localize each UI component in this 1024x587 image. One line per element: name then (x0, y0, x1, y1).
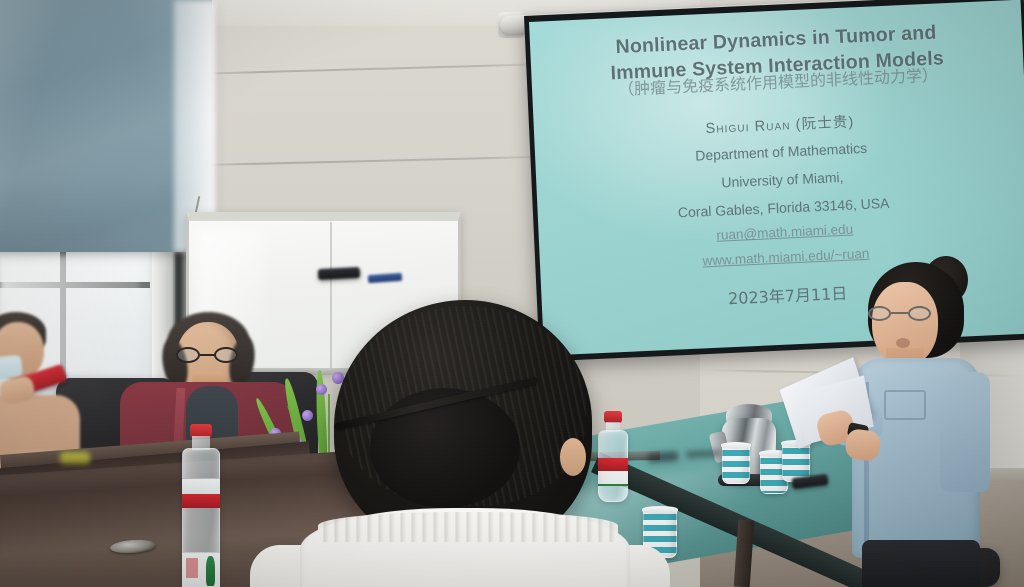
bottle-label-brand-front (182, 494, 220, 508)
speaker-shirt-pocket (884, 390, 926, 420)
bottle-label-leaf-front (206, 556, 215, 586)
speaker-glasses-icon (868, 306, 934, 321)
seated-man-glasses-icon (176, 347, 238, 363)
foreground-person-ear (560, 438, 586, 476)
phone-on-far-table[interactable] (318, 267, 361, 280)
face-mask-icon (0, 355, 23, 380)
seminar-room-photo: Nonlinear Dynamics in Tumor and Immune S… (0, 0, 1024, 587)
paper-cup-4-rim (642, 506, 678, 514)
paper-cup-1-rim (721, 442, 751, 449)
speaker-trousers (862, 540, 980, 587)
paper-cup-1[interactable] (722, 444, 750, 484)
whiteboard-seam (330, 222, 332, 368)
foreground-person-ruffle-trim (318, 512, 618, 542)
speaker-right-hand (844, 428, 882, 462)
small-item-on-table (60, 452, 90, 464)
foreground-person-bun (370, 388, 520, 508)
bottle-label-brand-right (598, 460, 628, 471)
speaker-mouth (896, 338, 910, 348)
bottle-label-text-front (186, 558, 198, 578)
speaker-sleeve (940, 372, 990, 492)
